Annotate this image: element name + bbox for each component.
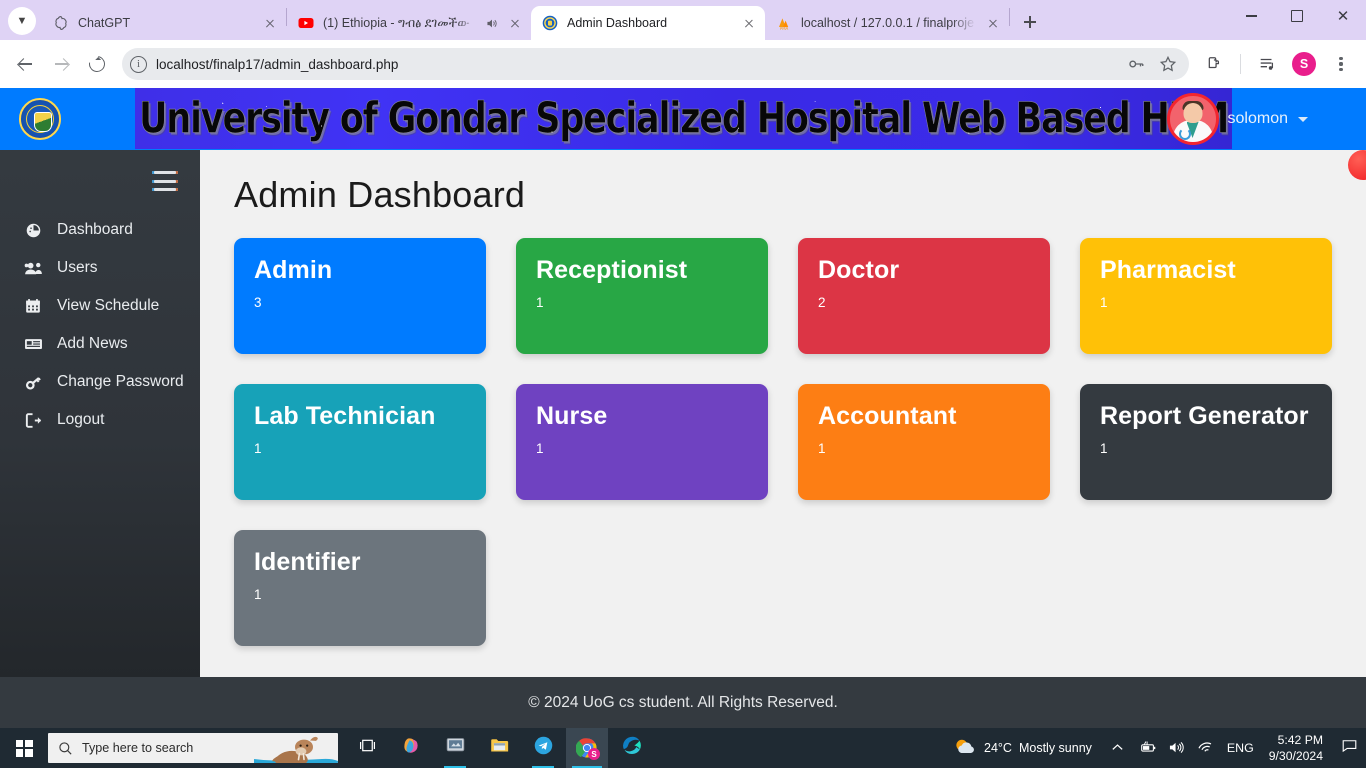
copilot-button[interactable]	[390, 728, 432, 768]
notification-center-button[interactable]	[1332, 728, 1366, 768]
browser-toolbar: i localhost/finalp17/admin_dashboard.php	[0, 40, 1366, 88]
stat-cards-grid: Admin3Receptionist1Doctor2Pharmacist1Lab…	[234, 238, 1344, 646]
clock-date: 9/30/2024	[1269, 748, 1323, 764]
edge-icon	[621, 735, 642, 761]
sidebar-item-dashboard[interactable]: Dashboard	[0, 211, 200, 249]
tab-title: (1) Ethiopia - ግብፅ ደገመችው	[323, 6, 476, 40]
mute-speaker-icon[interactable]	[485, 17, 498, 30]
sidebar-item-label: Dashboard	[57, 221, 133, 239]
file-explorer-button[interactable]	[478, 728, 520, 768]
youtube-icon	[298, 15, 314, 31]
stat-card-title: Admin	[254, 256, 466, 285]
sidebar-item-view-schedule[interactable]: View Schedule	[0, 287, 200, 325]
wifi-icon[interactable]	[1197, 740, 1213, 756]
sidebar-nav: Dashboard Users View Schedule	[0, 211, 200, 439]
doctor-avatar-icon	[1167, 93, 1219, 145]
search-placeholder: Type here to search	[82, 741, 193, 755]
site-banner: University of Gondar Specialized Hospita…	[135, 88, 1232, 149]
extensions-button[interactable]	[1197, 47, 1231, 81]
user-menu[interactable]: solomon	[1167, 88, 1308, 150]
reload-icon	[86, 53, 108, 75]
media-player-icon	[445, 735, 466, 761]
maximize-button[interactable]	[1274, 0, 1320, 32]
stat-card[interactable]: Doctor2	[798, 238, 1050, 354]
stat-card-title: Lab Technician	[254, 402, 466, 431]
volume-icon[interactable]	[1168, 740, 1184, 756]
notification-icon	[1341, 737, 1358, 759]
telegram-icon	[533, 735, 554, 761]
stat-card-count: 1	[536, 295, 748, 310]
browser-tab-phpmyadmin[interactable]: PMA localhost / 127.0.0.1 / finalproje	[765, 6, 1009, 40]
tab-search-chevron-icon[interactable]: ▼	[8, 7, 36, 35]
users-icon	[22, 258, 44, 278]
key-icon	[22, 372, 44, 392]
chrome-browser-window: ▼ ChatGPT (1) Ethiopia - ግብፅ ደገመችው	[0, 0, 1366, 728]
chrome-menu-button[interactable]	[1324, 47, 1358, 81]
sidebar-item-add-news[interactable]: Add News	[0, 325, 200, 363]
address-bar[interactable]: i localhost/finalp17/admin_dashboard.php	[122, 48, 1189, 80]
walrus-illustration	[254, 733, 338, 763]
stat-card-count: 1	[536, 441, 748, 456]
profile-button[interactable]: S	[1287, 47, 1321, 81]
sidebar-item-logout[interactable]: Logout	[0, 401, 200, 439]
stat-card-count: 1	[1100, 295, 1312, 310]
sidebar-item-change-password[interactable]: Change Password	[0, 363, 200, 401]
stat-card-title: Accountant	[818, 402, 1030, 431]
tab-title: localhost / 127.0.0.1 / finalproje	[801, 6, 976, 40]
minimize-button[interactable]	[1228, 0, 1274, 32]
stat-card[interactable]: Admin3	[234, 238, 486, 354]
weather-condition-label: Mostly sunny	[1019, 741, 1092, 755]
window-controls: ✕	[1228, 0, 1366, 40]
battery-icon[interactable]	[1139, 740, 1155, 756]
tab-separator	[1009, 8, 1010, 26]
page-body: Dashboard Users View Schedule	[0, 150, 1366, 677]
temperature-label: 24°C	[984, 741, 1012, 755]
bookmark-star-icon[interactable]	[1159, 55, 1177, 73]
start-button[interactable]	[0, 728, 48, 768]
password-key-icon[interactable]	[1127, 55, 1145, 73]
task-view-icon	[358, 736, 377, 760]
avatar: S	[1292, 52, 1316, 76]
stat-card[interactable]: Lab Technician1	[234, 384, 486, 500]
phpmyadmin-icon: PMA	[776, 15, 792, 31]
sidebar-item-label: View Schedule	[57, 297, 159, 315]
browser-tab-admin-dashboard[interactable]: Admin Dashboard	[531, 6, 765, 40]
clock-time: 5:42 PM	[1269, 732, 1323, 748]
stat-card[interactable]: Receptionist1	[516, 238, 768, 354]
task-view-button[interactable]	[346, 728, 388, 768]
stat-card[interactable]: Accountant1	[798, 384, 1050, 500]
forward-arrow-icon	[53, 56, 70, 73]
new-tab-button[interactable]	[1016, 8, 1044, 36]
language-indicator[interactable]: ENG	[1221, 741, 1260, 755]
site-info-icon[interactable]: i	[130, 56, 147, 73]
news-list-icon	[22, 334, 44, 354]
close-icon[interactable]	[507, 15, 523, 31]
tab-title: ChatGPT	[78, 6, 253, 40]
tab-title: Admin Dashboard	[567, 6, 732, 40]
calendar-icon	[22, 296, 44, 316]
gauge-icon	[22, 220, 44, 240]
search-icon	[58, 741, 73, 756]
stat-card-count: 2	[818, 295, 1030, 310]
telegram-button[interactable]	[522, 728, 564, 768]
stat-card-title: Report Generator	[1100, 402, 1312, 431]
sidebar-item-label: Add News	[57, 335, 128, 353]
stat-card-count: 1	[254, 441, 466, 456]
svg-text:PMA: PMA	[780, 26, 789, 31]
stat-card-count: 1	[1100, 441, 1312, 456]
edge-button[interactable]	[610, 728, 652, 768]
close-window-button[interactable]: ✕	[1320, 0, 1366, 32]
tab-strip: ▼ ChatGPT (1) Ethiopia - ግብፅ ደገመችው	[0, 0, 1366, 40]
chevron-up-icon[interactable]	[1110, 740, 1126, 756]
clock-widget[interactable]: 5:42 PM 9/30/2024	[1260, 732, 1332, 765]
weather-widget[interactable]: 24°C Mostly sunny	[943, 737, 1102, 760]
url-text: localhost/finalp17/admin_dashboard.php	[156, 57, 1127, 72]
university-of-gondar-logo-icon	[19, 98, 61, 140]
web-page-content: University of Gondar Specialized Hospita…	[0, 88, 1366, 728]
stat-card-title: Doctor	[818, 256, 1030, 285]
chatgpt-icon	[53, 15, 69, 31]
forward-button[interactable]	[44, 47, 78, 81]
sidebar-item-label: Logout	[57, 411, 104, 429]
windows-start-icon	[16, 740, 33, 757]
media-player-button[interactable]	[434, 728, 476, 768]
stat-card-title: Nurse	[536, 402, 748, 431]
toolbar-divider	[1240, 54, 1241, 74]
close-icon[interactable]	[985, 15, 1001, 31]
stat-card-count: 3	[254, 295, 466, 310]
page-title: Admin Dashboard	[234, 174, 1344, 216]
chevron-down-icon[interactable]	[1298, 117, 1308, 122]
main-content: Admin Dashboard Admin3Receptionist1Docto…	[200, 150, 1366, 677]
system-tray: 24°C Mostly sunny ENG 5:42 PM 9/30/2024	[943, 728, 1366, 768]
sidebar-item-users[interactable]: Users	[0, 249, 200, 287]
browser-tab-youtube[interactable]: (1) Ethiopia - ግብፅ ደገመችው	[287, 6, 531, 40]
footer-text: © 2024 UoG cs student. All Rights Reserv…	[528, 694, 838, 712]
extensions-puzzle-icon	[1205, 55, 1223, 73]
sidebar: Dashboard Users View Schedule	[0, 150, 200, 677]
stat-card-title: Identifier	[254, 548, 466, 577]
site-footer: © 2024 UoG cs student. All Rights Reserv…	[0, 677, 1366, 728]
media-playlist-icon	[1258, 55, 1276, 73]
stat-card[interactable]: Identifier1	[234, 530, 486, 646]
tray-icons	[1102, 740, 1221, 756]
sidebar-item-label: Change Password	[57, 373, 184, 391]
sidebar-item-label: Users	[57, 259, 97, 277]
file-explorer-icon	[489, 735, 510, 761]
stat-card[interactable]: Report Generator1	[1080, 384, 1332, 500]
back-button[interactable]	[8, 47, 42, 81]
media-control-button[interactable]	[1250, 47, 1284, 81]
taskbar-search-box[interactable]: Type here to search	[48, 733, 338, 763]
stat-card-title: Pharmacist	[1100, 256, 1312, 285]
toolbar-right-icons: S	[1197, 47, 1358, 81]
stat-card-count: 1	[818, 441, 1030, 456]
stat-card-count: 1	[254, 587, 466, 602]
taskbar-apps: S	[346, 728, 652, 768]
stat-card[interactable]: Pharmacist1	[1080, 238, 1332, 354]
site-header: University of Gondar Specialized Hospita…	[0, 88, 1366, 150]
close-icon[interactable]	[741, 15, 757, 31]
uog-logo-icon	[542, 15, 558, 31]
chrome-button[interactable]: S	[566, 728, 608, 768]
kebab-menu-icon	[1331, 54, 1351, 74]
logout-icon	[22, 410, 44, 430]
copilot-icon	[401, 735, 422, 761]
reload-button[interactable]	[80, 47, 114, 81]
windows-taskbar: Type here to search	[0, 728, 1366, 768]
weather-sunny-cloud-icon	[953, 737, 977, 760]
banner-title: University of Gondar Specialized Hospita…	[139, 97, 1228, 140]
back-arrow-icon	[17, 56, 34, 73]
hamburger-menu-icon[interactable]	[152, 171, 178, 191]
browser-tab-chatgpt[interactable]: ChatGPT	[42, 6, 286, 40]
close-icon[interactable]	[262, 15, 278, 31]
chrome-icon: S	[576, 737, 598, 759]
stat-card-title: Receptionist	[536, 256, 748, 285]
user-name-label: solomon	[1228, 110, 1288, 128]
stat-card[interactable]: Nurse1	[516, 384, 768, 500]
